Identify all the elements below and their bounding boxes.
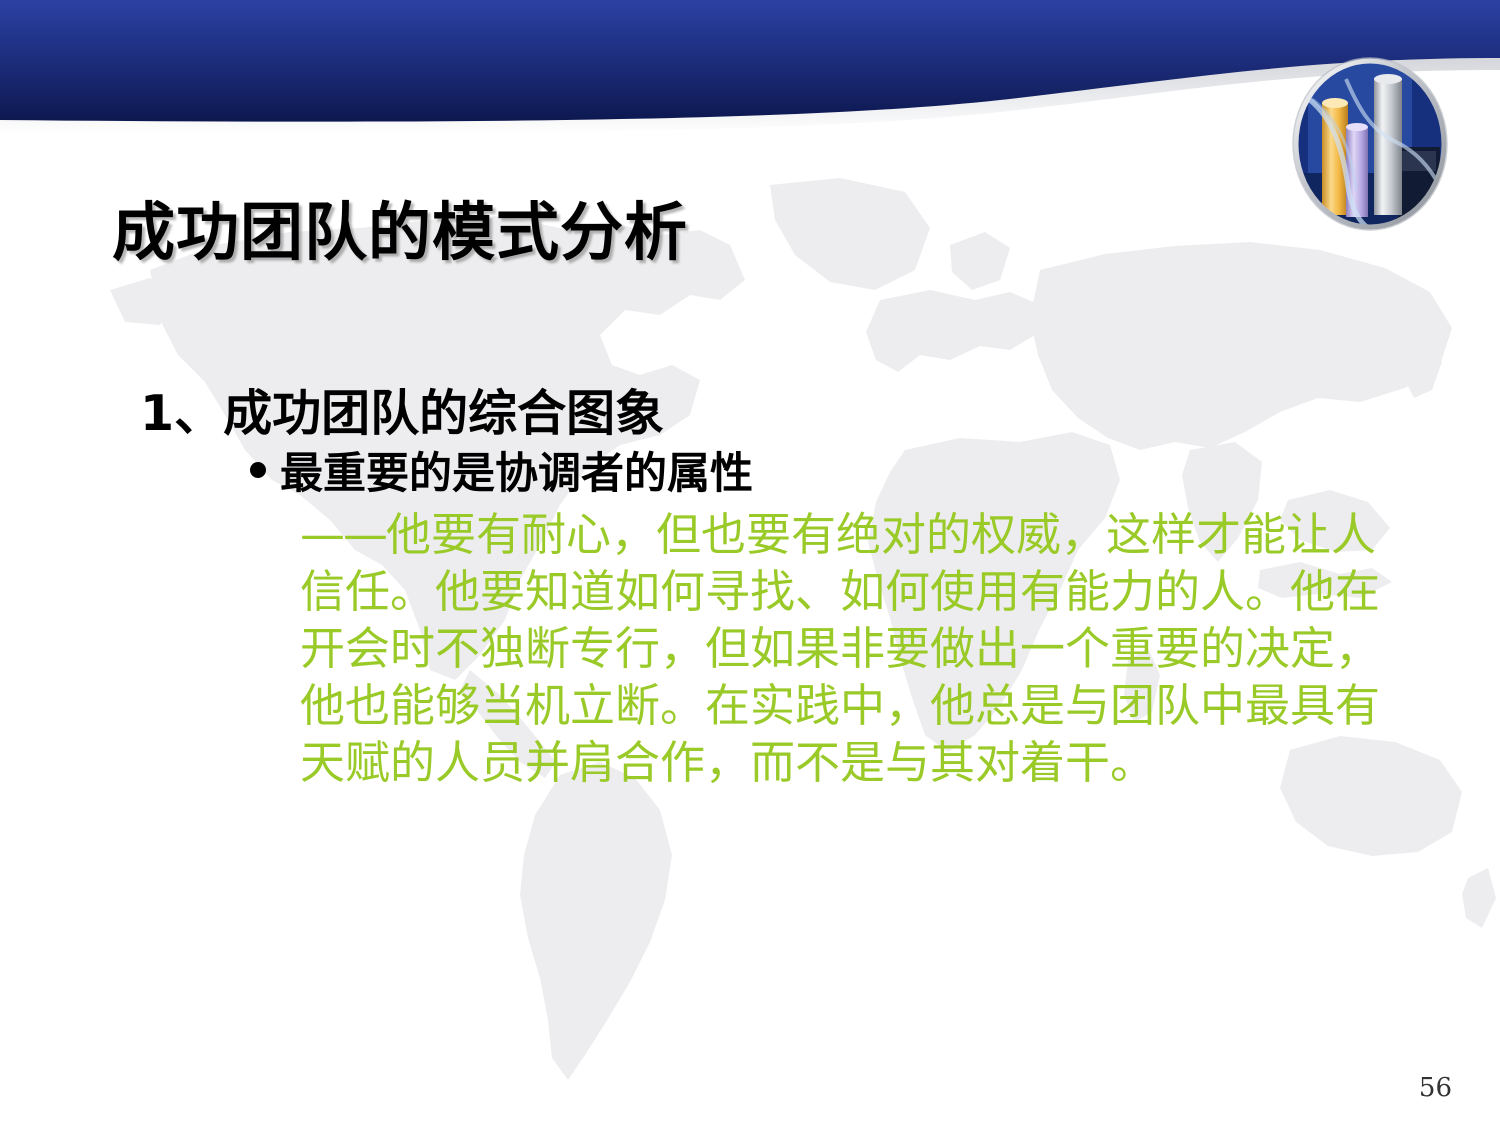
outline-level2-text: 最重要的是协调者的属性: [280, 449, 753, 501]
em-dash-lead: ——: [300, 508, 386, 561]
outline-level1-number: 1、: [140, 385, 223, 442]
outline-level1-item: 1、成功团队的综合图象: [0, 385, 1500, 443]
page-title: 成功团队的模式分析: [112, 200, 688, 266]
outline-level3-text: 他要有耐心，但也要有绝对的权威，这样才能让人信任。他要知道如何寻找、如何使用有能…: [300, 508, 1380, 789]
header-banner: [0, 0, 1500, 200]
bar-chart-circle-logo: [1290, 55, 1450, 233]
slide-body: 1、成功团队的综合图象 最重要的是协调者的属性 ——他要有耐心，但也要有绝对的权…: [0, 385, 1500, 791]
outline-level3-paragraph: ——他要有耐心，但也要有绝对的权威，这样才能让人信任。他要知道如何寻找、如何使用…: [0, 506, 1500, 791]
bullet-dot-icon: [250, 462, 266, 478]
outline-level1-text: 成功团队的综合图象: [223, 385, 664, 442]
slide-canvas: 成功团队的模式分析 1、成功团队的综合图象 最重要的是协调者的属性 ——他要有耐…: [0, 0, 1500, 1125]
outline-level2-item: 最重要的是协调者的属性: [0, 449, 1500, 501]
page-number: 56: [1419, 1073, 1452, 1103]
